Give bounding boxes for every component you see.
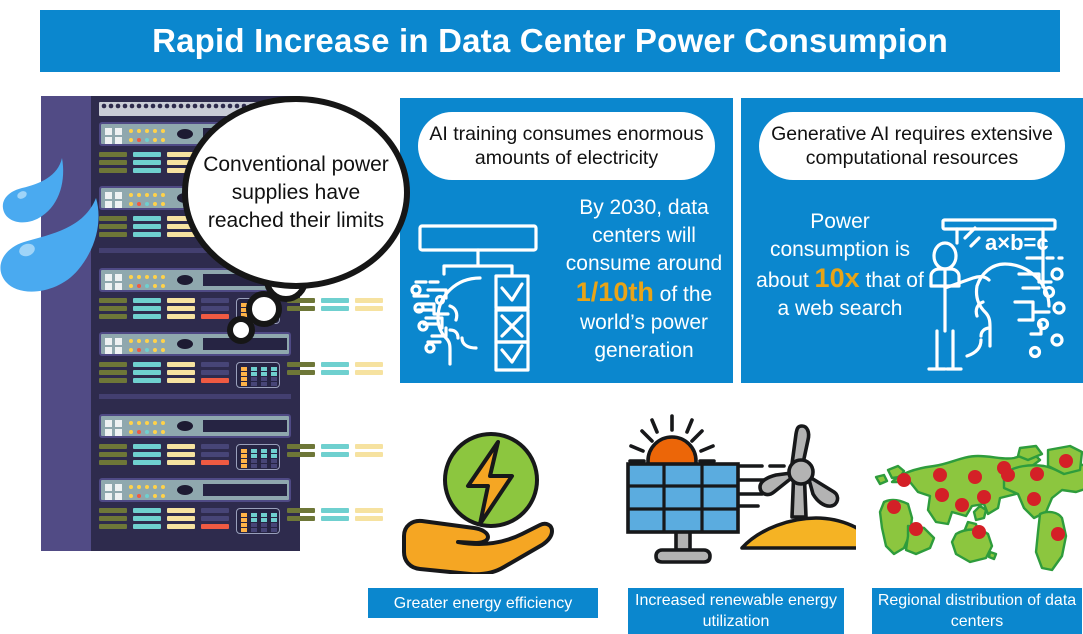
unit-led — [153, 430, 157, 434]
unit-led — [145, 202, 149, 206]
led-meter-cell — [251, 449, 257, 453]
unit-led — [153, 138, 157, 142]
unit-led — [153, 348, 157, 352]
led-bar — [167, 452, 195, 457]
unit-drive-slot — [177, 485, 193, 495]
unit-led — [153, 284, 157, 288]
generative-ai-highlight: 10x — [815, 263, 860, 293]
server-unit — [99, 478, 291, 502]
unit-led — [161, 129, 165, 133]
led-meter-cell — [251, 372, 257, 376]
solution-label-distribution: Regional distribution of data centers — [872, 588, 1082, 634]
led-bar — [133, 298, 161, 303]
led-group — [201, 362, 229, 388]
led-bar — [287, 370, 315, 375]
unit-indicator-square — [105, 128, 112, 135]
solution-label-renewables: Increased renewable energy utilization — [628, 588, 844, 634]
led-meter-cell — [271, 464, 277, 468]
unit-led — [161, 421, 165, 425]
led-bar — [321, 370, 349, 375]
led-bar — [133, 224, 161, 229]
led-bar — [167, 508, 195, 513]
led-bar — [167, 378, 195, 383]
page-title: Rapid Increase in Data Center Power Cons… — [152, 22, 948, 60]
unit-led — [153, 202, 157, 206]
led-bar — [99, 508, 127, 513]
led-bar — [287, 306, 315, 311]
led-bar — [133, 168, 161, 173]
unit-led — [137, 202, 141, 206]
server-unit — [99, 414, 291, 438]
unit-indicator-square — [115, 484, 122, 491]
unit-led — [129, 494, 133, 498]
led-bar — [133, 160, 161, 165]
led-meter-cell — [261, 459, 267, 463]
unit-led — [137, 421, 141, 425]
led-bar — [355, 444, 383, 449]
led-group — [133, 508, 161, 534]
unit-led — [137, 348, 141, 352]
led-bar — [133, 370, 161, 375]
led-group — [133, 152, 161, 178]
led-bar — [321, 508, 349, 513]
led-bar — [133, 306, 161, 311]
led-bar — [99, 460, 127, 465]
rack-divider — [99, 394, 291, 399]
led-bar — [355, 452, 383, 457]
led-bar — [133, 378, 161, 383]
unit-led — [145, 494, 149, 498]
panel-ai-training-heading: AI training consumes enormous amounts of… — [418, 122, 715, 170]
led-meter-cell — [241, 449, 247, 453]
unit-indicator-square — [105, 137, 112, 144]
led-meter-cell — [251, 377, 257, 381]
unit-led — [129, 430, 133, 434]
unit-led — [145, 421, 149, 425]
unit-led — [145, 129, 149, 133]
led-bar — [99, 516, 127, 521]
unit-drive-slot — [177, 129, 193, 139]
unit-indicator-square — [105, 338, 112, 345]
led-meter-cell — [271, 523, 277, 527]
unit-led — [129, 202, 133, 206]
led-meter-cell — [241, 459, 247, 463]
unit-led — [129, 348, 133, 352]
led-meter-cell — [261, 513, 267, 517]
led-bar — [355, 516, 383, 521]
led-group — [355, 444, 383, 470]
unit-led — [137, 430, 141, 434]
led-bar — [133, 524, 161, 529]
led-group — [321, 298, 349, 324]
led-bar — [99, 378, 127, 383]
led-meter-cell — [241, 377, 247, 381]
led-bar — [133, 452, 161, 457]
led-meter-cell — [271, 377, 277, 381]
led-bar — [201, 516, 229, 521]
led-meter-cell — [271, 454, 277, 458]
led-meter-cell — [271, 513, 277, 517]
unit-led — [161, 138, 165, 142]
ai-training-body-prefix: By 2030, data centers will consume aroun… — [566, 196, 722, 275]
led-bar — [321, 452, 349, 457]
led-bar — [99, 452, 127, 457]
led-bar — [133, 232, 161, 237]
led-bar — [355, 298, 383, 303]
unit-led — [137, 193, 141, 197]
led-group — [355, 298, 383, 324]
led-meter-cell — [261, 528, 267, 532]
led-group — [133, 216, 161, 242]
led-bar — [201, 298, 229, 303]
led-bar — [133, 314, 161, 319]
whiteboard-formula: a×b=c — [985, 230, 1049, 255]
led-meter-cell — [261, 454, 267, 458]
panel-ai-training-body: By 2030, data centers will consume aroun… — [560, 194, 728, 365]
led-meter-cell — [271, 372, 277, 376]
led-meter-cell — [251, 382, 257, 386]
led-bar — [167, 516, 195, 521]
unit-drive-slot — [177, 275, 193, 285]
led-meter-cell — [241, 528, 247, 532]
led-group — [287, 444, 315, 470]
led-group — [321, 508, 349, 534]
led-bar — [355, 370, 383, 375]
unit-led — [161, 494, 165, 498]
led-meter-cell — [251, 367, 257, 371]
led-bar — [287, 452, 315, 457]
led-bar — [167, 232, 195, 237]
led-meter-cell — [271, 449, 277, 453]
led-meter-cell — [251, 464, 257, 468]
led-bar — [287, 362, 315, 367]
led-group — [133, 362, 161, 388]
led-bar — [201, 378, 229, 383]
led-meter-cell — [271, 459, 277, 463]
led-bar — [99, 306, 127, 311]
unit-led — [161, 202, 165, 206]
led-meter-cell — [261, 449, 267, 453]
unit-indicator-square — [105, 429, 112, 436]
led-group — [167, 508, 195, 534]
unit-led — [153, 421, 157, 425]
panel-ai-training: AI training consumes enormous amounts of… — [400, 98, 733, 383]
led-meter-cell — [261, 523, 267, 527]
unit-led — [161, 284, 165, 288]
led-meter-panel — [236, 444, 280, 470]
led-meter-cell — [251, 454, 257, 458]
led-meter-cell — [261, 377, 267, 381]
led-bar — [167, 460, 195, 465]
led-bar — [355, 508, 383, 513]
led-bar — [133, 444, 161, 449]
led-meter-cell — [261, 367, 267, 371]
unit-led — [153, 275, 157, 279]
water-droplet-icon — [0, 150, 120, 300]
led-bar — [287, 444, 315, 449]
unit-led — [153, 485, 157, 489]
led-meter-cell — [261, 372, 267, 376]
unit-indicator-square — [105, 420, 112, 427]
led-meter-cell — [261, 464, 267, 468]
unit-indicator-square — [105, 493, 112, 500]
unit-led — [129, 284, 133, 288]
unit-indicator-square — [115, 493, 122, 500]
led-bank — [99, 508, 291, 534]
led-meter-cell — [241, 518, 247, 522]
led-bar — [167, 314, 195, 319]
led-meter-cell — [241, 372, 247, 376]
led-group — [201, 298, 229, 324]
led-bar — [201, 460, 229, 465]
unit-indicator-square — [115, 420, 122, 427]
led-meter-cell — [261, 382, 267, 386]
panel-generative-ai-heading-pill: Generative AI requires extensive computa… — [759, 112, 1065, 180]
unit-led — [161, 430, 165, 434]
led-group — [133, 444, 161, 470]
unit-led — [161, 339, 165, 343]
unit-led — [145, 339, 149, 343]
panel-generative-ai: Generative AI requires extensive computa… — [741, 98, 1083, 383]
panel-ai-training-heading-pill: AI training consumes enormous amounts of… — [418, 112, 715, 180]
unit-indicator-square — [115, 338, 122, 345]
unit-indicator-square — [115, 347, 122, 354]
unit-led — [145, 138, 149, 142]
led-bar — [133, 216, 161, 221]
led-bar — [355, 362, 383, 367]
led-meter-cell — [261, 518, 267, 522]
teacher-whiteboard-ai-head-icon: a×b=c — [923, 216, 1075, 374]
page-title-banner: Rapid Increase in Data Center Power Cons… — [40, 10, 1060, 72]
thought-bubble-dot-small — [227, 316, 255, 344]
led-bar — [201, 370, 229, 375]
led-group — [99, 298, 127, 324]
led-bar — [201, 314, 229, 319]
unit-led — [137, 138, 141, 142]
led-bar — [133, 460, 161, 465]
unit-led — [161, 193, 165, 197]
led-bar — [201, 452, 229, 457]
led-bar — [133, 152, 161, 157]
led-group — [167, 444, 195, 470]
led-group — [167, 298, 195, 324]
unit-led — [137, 494, 141, 498]
led-group — [167, 362, 195, 388]
led-meter-cell — [241, 367, 247, 371]
unit-indicator-square — [115, 128, 122, 135]
led-meter-cell — [251, 528, 257, 532]
led-group — [99, 508, 127, 534]
led-group — [201, 444, 229, 470]
led-bar — [167, 524, 195, 529]
led-group — [99, 444, 127, 470]
server-unit — [99, 332, 291, 356]
led-group — [287, 298, 315, 324]
led-bar — [133, 508, 161, 513]
unit-indicator-square — [115, 429, 122, 436]
led-bar — [355, 306, 383, 311]
unit-led — [129, 138, 133, 142]
unit-led — [145, 193, 149, 197]
led-bar — [201, 306, 229, 311]
thought-bubble-text: Conventional power supplies have reached… — [201, 151, 391, 235]
led-meter-cell — [241, 454, 247, 458]
led-meter-cell — [241, 513, 247, 517]
led-meter-cell — [251, 518, 257, 522]
unit-indicator-square — [105, 347, 112, 354]
unit-led — [145, 485, 149, 489]
led-meter-cell — [251, 523, 257, 527]
led-bar — [99, 524, 127, 529]
led-bar — [167, 362, 195, 367]
unit-indicator-square — [105, 484, 112, 491]
solution-label-efficiency: Greater energy efficiency — [368, 588, 598, 618]
led-bar — [201, 508, 229, 513]
led-meter-cell — [251, 513, 257, 517]
led-meter-cell — [251, 459, 257, 463]
led-group — [287, 362, 315, 388]
led-bar — [321, 444, 349, 449]
led-bar — [99, 444, 127, 449]
led-meter-cell — [241, 464, 247, 468]
led-bar — [287, 516, 315, 521]
led-bar — [201, 444, 229, 449]
led-bar — [133, 362, 161, 367]
unit-bay — [203, 484, 287, 496]
led-meter-cell — [241, 382, 247, 386]
ai-head-circuit-checklist-icon — [410, 218, 550, 373]
led-bar — [287, 508, 315, 513]
unit-drive-slot — [177, 339, 193, 349]
led-bar — [99, 370, 127, 375]
led-meter-cell — [271, 367, 277, 371]
led-group — [321, 362, 349, 388]
led-bar — [201, 362, 229, 367]
led-group — [355, 362, 383, 388]
unit-led — [137, 485, 141, 489]
unit-led — [153, 494, 157, 498]
panel-generative-ai-body: Power consumption is about 10x that of a… — [755, 208, 925, 323]
led-bank — [99, 444, 291, 470]
unit-led — [137, 129, 141, 133]
led-meter-cell — [271, 528, 277, 532]
unit-led — [137, 275, 141, 279]
unit-indicator-square — [115, 137, 122, 144]
led-meter-panel — [236, 508, 280, 534]
unit-led — [161, 348, 165, 352]
unit-led — [161, 275, 165, 279]
unit-led — [129, 485, 133, 489]
unit-led — [145, 348, 149, 352]
unit-led — [145, 430, 149, 434]
led-bar — [167, 444, 195, 449]
unit-led — [129, 275, 133, 279]
led-bar — [321, 298, 349, 303]
led-bar — [321, 516, 349, 521]
led-group — [99, 362, 127, 388]
led-meter-cell — [271, 382, 277, 386]
led-bar — [321, 362, 349, 367]
hand-holding-energy-bolt-icon — [396, 424, 586, 574]
led-bar — [133, 516, 161, 521]
thought-bubble: Conventional power supplies have reached… — [182, 96, 410, 289]
unit-led — [161, 485, 165, 489]
led-bar — [167, 298, 195, 303]
unit-led — [145, 275, 149, 279]
led-bank — [99, 362, 291, 388]
led-bar — [99, 362, 127, 367]
unit-led — [129, 339, 133, 343]
unit-led — [137, 339, 141, 343]
unit-led — [137, 284, 141, 288]
solar-panel-wind-turbine-sun-icon — [616, 406, 856, 578]
led-group — [321, 444, 349, 470]
led-bar — [167, 370, 195, 375]
led-bar — [167, 306, 195, 311]
led-bar — [99, 314, 127, 319]
led-group — [201, 508, 229, 534]
unit-bay — [203, 420, 287, 432]
led-meter-cell — [241, 523, 247, 527]
unit-led — [129, 129, 133, 133]
led-bar — [201, 524, 229, 529]
unit-led — [129, 193, 133, 197]
led-group — [133, 298, 161, 324]
unit-led — [129, 421, 133, 425]
unit-led — [153, 193, 157, 197]
world-map-datacenter-dots-icon — [862, 430, 1083, 580]
panel-generative-ai-heading: Generative AI requires extensive computa… — [759, 122, 1065, 170]
ai-training-highlight: 1/10th — [576, 277, 654, 307]
unit-drive-slot — [177, 421, 193, 431]
unit-led — [153, 129, 157, 133]
led-group — [287, 508, 315, 534]
unit-led — [145, 284, 149, 288]
unit-led — [153, 339, 157, 343]
led-group — [355, 508, 383, 534]
led-meter-cell — [271, 518, 277, 522]
led-bar — [321, 306, 349, 311]
led-meter-panel — [236, 362, 280, 388]
